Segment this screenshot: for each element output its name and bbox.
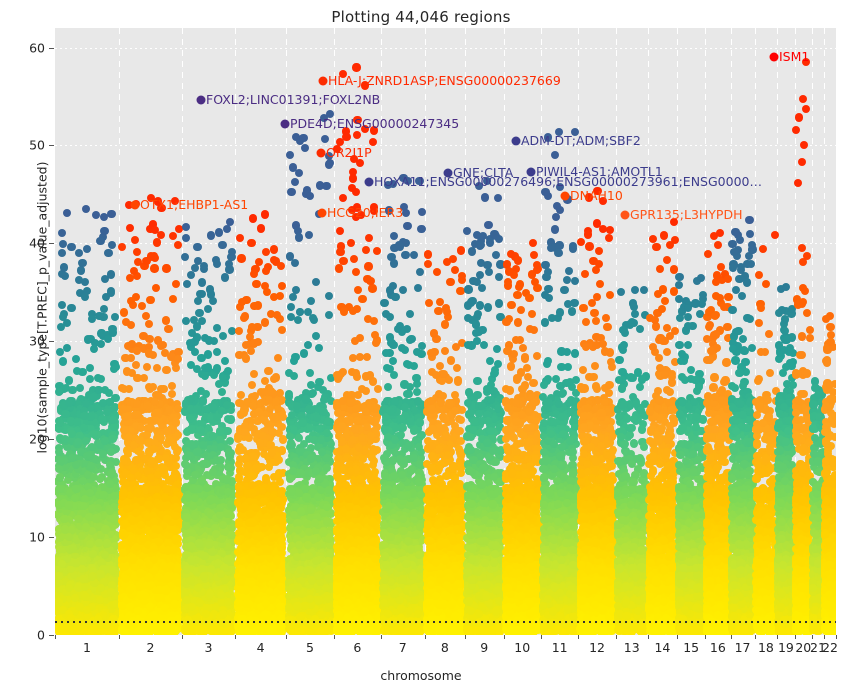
y-axis-label-wrap: log10(sample_type[T.PREC]_p_value_adjust… bbox=[0, 0, 20, 696]
y-axis-label: log10(sample_type[T.PREC]_p_value_adjust… bbox=[35, 8, 50, 608]
page-title: Plotting 44,046 regions bbox=[0, 8, 842, 26]
plot-area: ISM1HLA-J;ZNRD1ASP;ENSG00000237669FOXL2;… bbox=[55, 28, 836, 635]
manhattan-plot-figure: Plotting 44,046 regions log10(sample_typ… bbox=[0, 0, 842, 696]
